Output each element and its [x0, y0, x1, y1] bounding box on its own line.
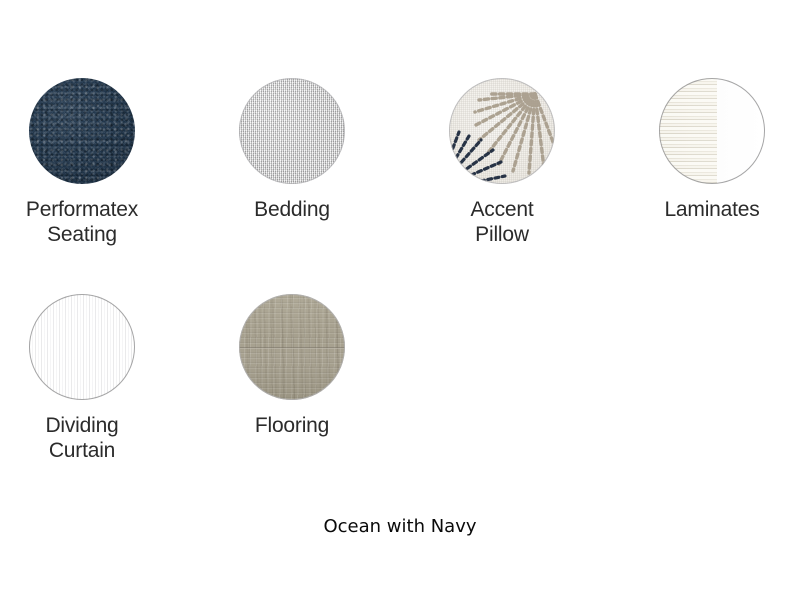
swatch-fill-navy-fabric: [29, 78, 135, 184]
swatch-cell-bedding[interactable]: Bedding: [210, 78, 374, 222]
swatch-flooring[interactable]: [239, 294, 345, 400]
swatch-dividing-curtain[interactable]: [29, 294, 135, 400]
swatch-fill-starburst-print: [449, 78, 555, 184]
swatch-label-accent-pillow: Accent Pillow: [420, 197, 584, 247]
swatch-cell-dividing-curtain[interactable]: Dividing Curtain: [0, 294, 164, 463]
laminate-cream-half: [659, 78, 717, 184]
swatch-bedding[interactable]: [239, 78, 345, 184]
swatch-label-performatex-seating: Performatex Seating: [0, 197, 164, 247]
swatch-fill-striated-white: [29, 294, 135, 400]
swatch-cell-laminates[interactable]: Laminates: [630, 78, 794, 222]
swatch-laminates[interactable]: [659, 78, 765, 184]
plank-seam-line: [239, 347, 345, 349]
board-caption: Ocean with Navy: [0, 516, 800, 538]
linen-grain-overlay: [239, 78, 345, 184]
swatch-fill-woven-linen: [239, 78, 345, 184]
swatch-label-bedding: Bedding: [210, 197, 374, 222]
swatch-fill-split-laminate: [659, 78, 765, 184]
swatch-label-flooring: Flooring: [210, 413, 374, 438]
swatch-label-laminates: Laminates: [630, 197, 794, 222]
laminate-white-half: [717, 78, 765, 184]
swatch-cell-performatex-seating[interactable]: Performatex Seating: [0, 78, 164, 247]
swatch-fill-wood-plank: [239, 294, 345, 400]
starburst-pattern-icon: [449, 78, 555, 184]
swatch-performatex-seating[interactable]: [29, 78, 135, 184]
swatch-label-dividing-curtain: Dividing Curtain: [0, 413, 164, 463]
swatch-cell-flooring[interactable]: Flooring: [210, 294, 374, 438]
swatch-accent-pillow[interactable]: [449, 78, 555, 184]
fabric-grain-overlay: [29, 78, 135, 184]
swatch-cell-accent-pillow[interactable]: Accent Pillow: [420, 78, 584, 247]
material-palette-board: Performatex Seating Bedding: [0, 0, 800, 600]
